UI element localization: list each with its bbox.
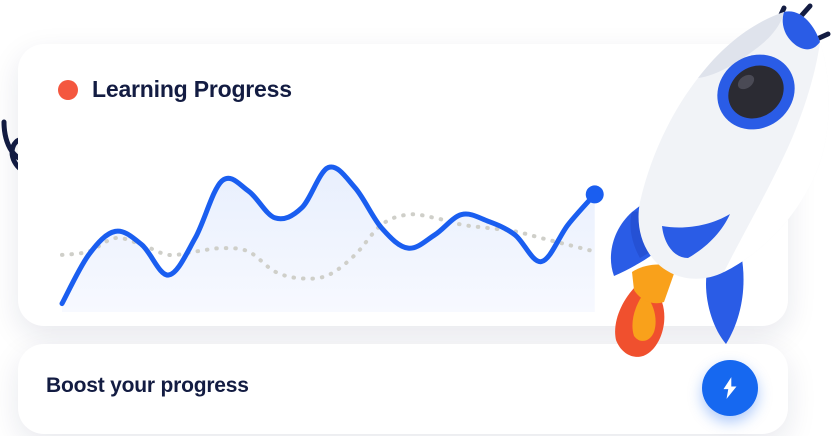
chart-area-fill xyxy=(62,167,595,312)
boost-progress-card: Boost your progress xyxy=(18,344,788,434)
learning-progress-card: Learning Progress xyxy=(18,44,788,326)
boost-button[interactable] xyxy=(702,360,758,416)
card-header: Learning Progress xyxy=(58,76,292,103)
chart-end-point-marker xyxy=(586,185,604,203)
lightning-bolt-icon xyxy=(717,375,743,401)
app-root: Learning Progress xyxy=(0,0,832,436)
chart-svg xyxy=(18,134,788,326)
status-dot-icon xyxy=(58,80,78,100)
page-title: Learning Progress xyxy=(92,76,292,103)
progress-chart xyxy=(18,134,788,326)
sparkle-lines-icon xyxy=(774,6,828,44)
boost-label: Boost your progress xyxy=(46,374,249,398)
